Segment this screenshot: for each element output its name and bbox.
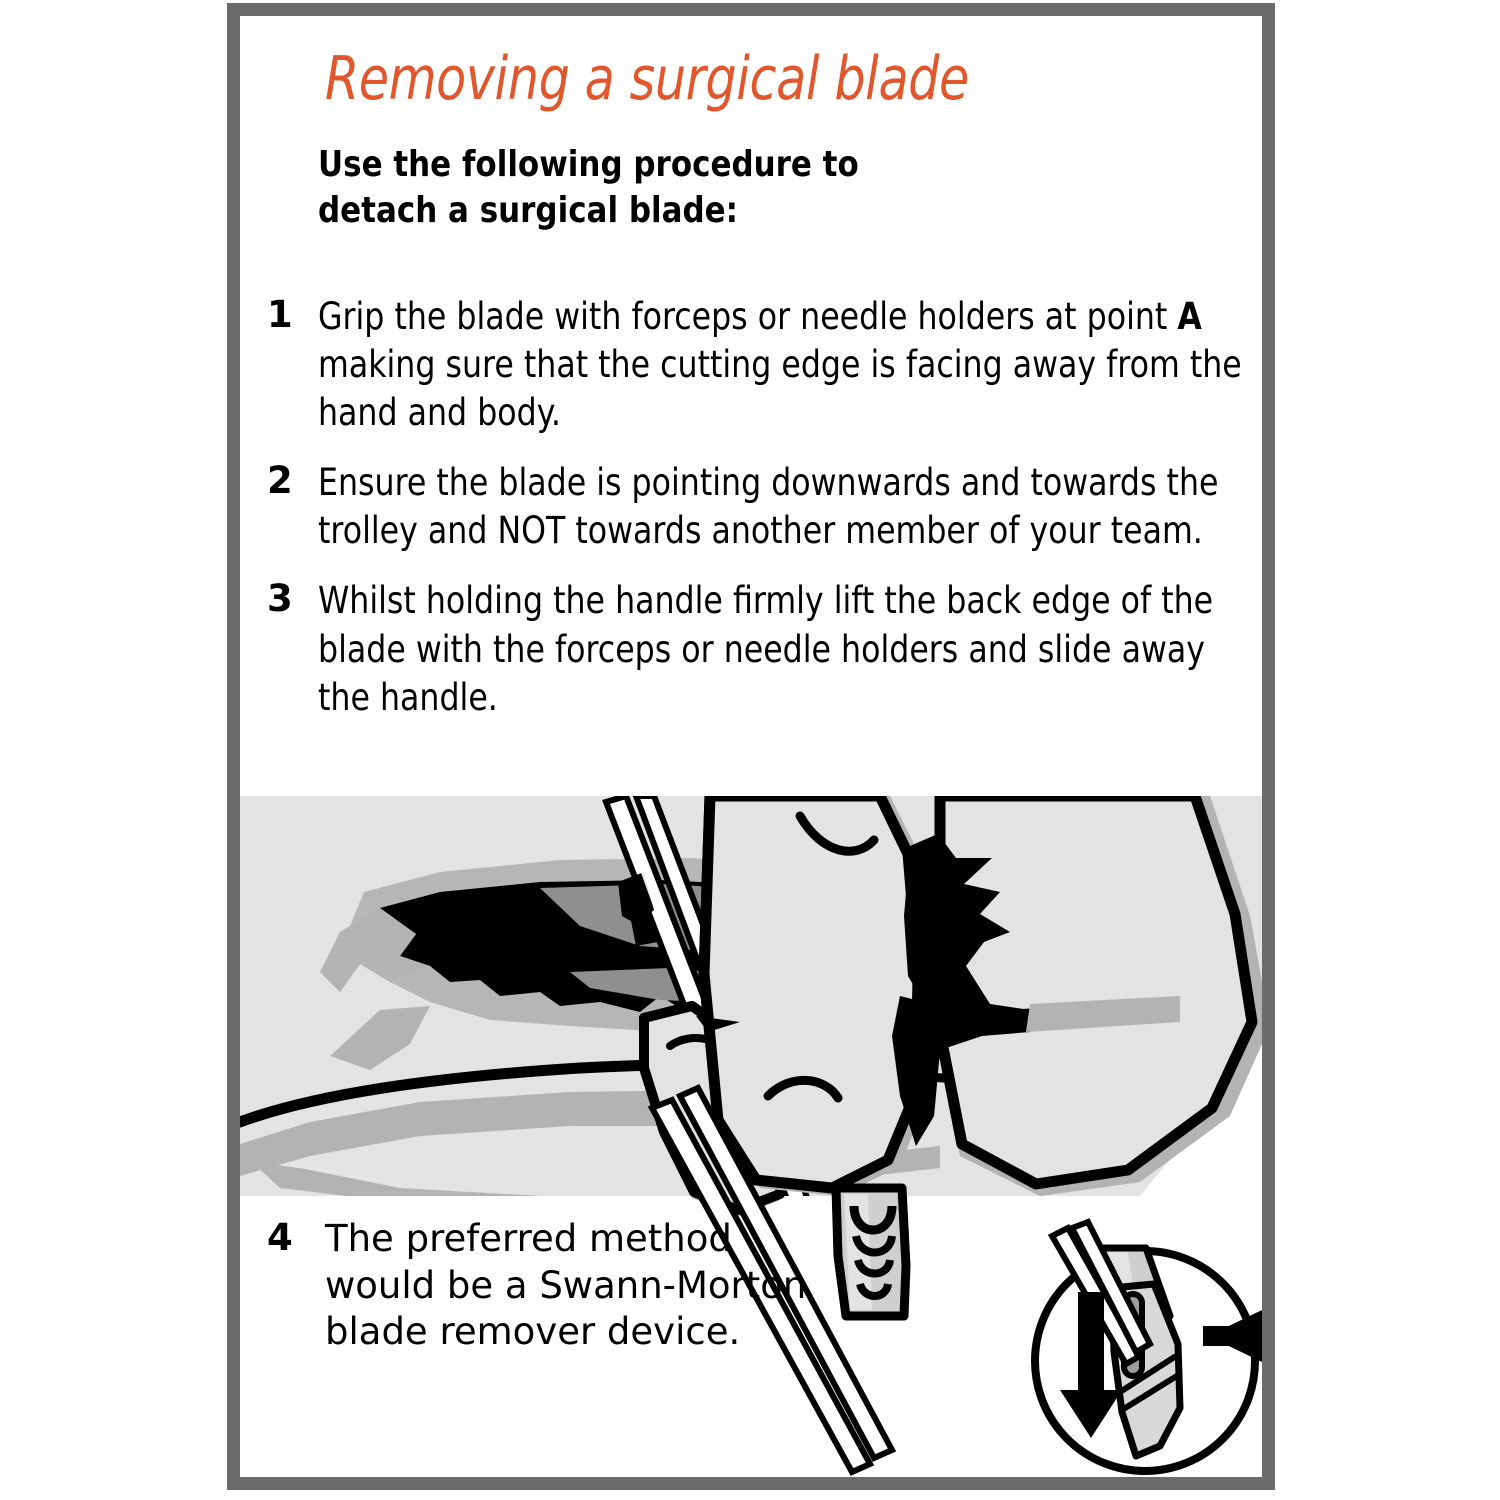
step-item-2: 2 Ensure the blade is pointing downwards… xyxy=(267,459,1262,555)
page-title: Removing a surgical blade xyxy=(325,44,969,114)
step-item-3: 3 Whilst holding the handle firmly lift … xyxy=(267,577,1262,721)
hand-and-scalpel-drawing: A xyxy=(240,796,1262,1477)
intro-text-after: a surgical blade: xyxy=(437,190,738,231)
step-item-4: 4 The preferred method would be a Swann-… xyxy=(267,1216,807,1356)
step-number-3: 3 xyxy=(267,577,309,620)
step-1-text-after: making sure that the cutting edge is fac… xyxy=(318,343,1242,434)
step-number-1: 1 xyxy=(267,293,309,336)
step-text-4: The preferred method would be a Swann-Mo… xyxy=(325,1216,845,1356)
step-1-text-before: Grip the blade with forceps or needle ho… xyxy=(318,295,1177,338)
step-text-1: Grip the blade with forceps or needle ho… xyxy=(318,293,1259,437)
step-text-3: Whilst holding the handle firmly lift th… xyxy=(318,577,1259,721)
intro-paragraph: Use the following procedure to detach a … xyxy=(318,142,972,234)
intro-emphasis: detach xyxy=(318,190,437,231)
procedure-steps: 1 Grip the blade with forceps or needle … xyxy=(267,293,1262,744)
poster-inner: Removing a surgical blade Use the follow… xyxy=(240,16,1262,1477)
step-number-4: 4 xyxy=(267,1216,309,1259)
step-text-2: Ensure the blade is pointing downwards a… xyxy=(318,459,1259,555)
intro-text-before: Use the following procedure to xyxy=(318,144,859,185)
poster-card: Removing a surgical blade Use the follow… xyxy=(227,3,1275,1490)
procedure-illustration: A xyxy=(240,796,1262,1477)
step-number-2: 2 xyxy=(267,459,309,502)
step-1-emphasis: A xyxy=(1177,295,1201,338)
scalpel-handle xyxy=(836,1188,906,1316)
step-item-1: 1 Grip the blade with forceps or needle … xyxy=(267,293,1262,437)
